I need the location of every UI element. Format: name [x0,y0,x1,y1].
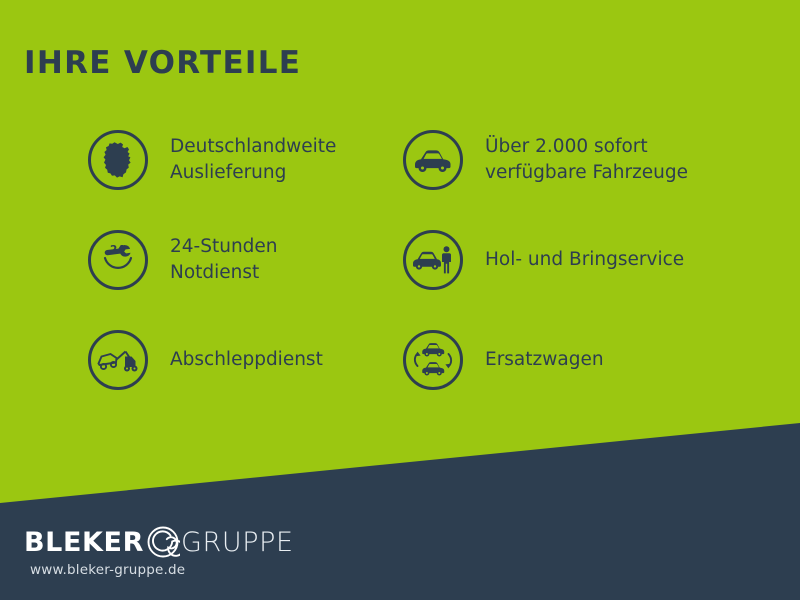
slide-root: IHRE VORTEILE Deutschlandweite Ausliefer… [0,0,800,600]
logo-primary-text: BLEKER [24,529,144,556]
tow-truck-icon [88,330,148,390]
twentyfour-hour-service-icon: 24 [88,230,148,290]
benefit-label: 24-Stunden Notdienst [170,234,278,287]
website-url[interactable]: www.bleker-gruppe.de [30,562,185,578]
benefit-item-abschleppdienst: Abschleppdienst [88,310,398,410]
benefit-label: Hol- und Bringservice [485,247,684,273]
logo-secondary-text: GRUPPE [181,529,294,556]
benefits-left-column: Deutschlandweite Auslieferung 24 24-Stun… [88,110,398,410]
benefit-item-deutschlandweite-auslieferung: Deutschlandweite Auslieferung [88,110,398,210]
page-title: IHRE VORTEILE [24,45,301,81]
spiral-circle-logo-icon [146,525,180,559]
benefit-label: Abschleppdienst [170,347,323,373]
benefit-label: Deutschlandweite Auslieferung [170,134,336,187]
germany-map-icon [88,130,148,190]
benefit-item-hol-und-bringservice: Hol- und Bringservice [403,210,733,310]
benefit-label: Über 2.000 sofort verfügbare Fahrzeuge [485,134,688,187]
benefits-right-column: Über 2.000 sofort verfügbare Fahrzeuge [403,110,733,410]
benefit-item-verfuegbare-fahrzeuge: Über 2.000 sofort verfügbare Fahrzeuge [403,110,733,210]
benefit-label: Ersatzwagen [485,347,604,373]
benefit-item-ersatzwagen: Ersatzwagen [403,310,733,410]
footer: BLEKER GRUPPE www.bleker-gruppe.de [0,505,800,600]
brand-logo[interactable]: BLEKER GRUPPE [24,525,294,559]
car-with-person-icon [403,230,463,290]
car-icon [403,130,463,190]
replacement-car-icon [403,330,463,390]
benefit-item-24-stunden-notdienst: 24 24-Stunden Notdienst [88,210,398,310]
